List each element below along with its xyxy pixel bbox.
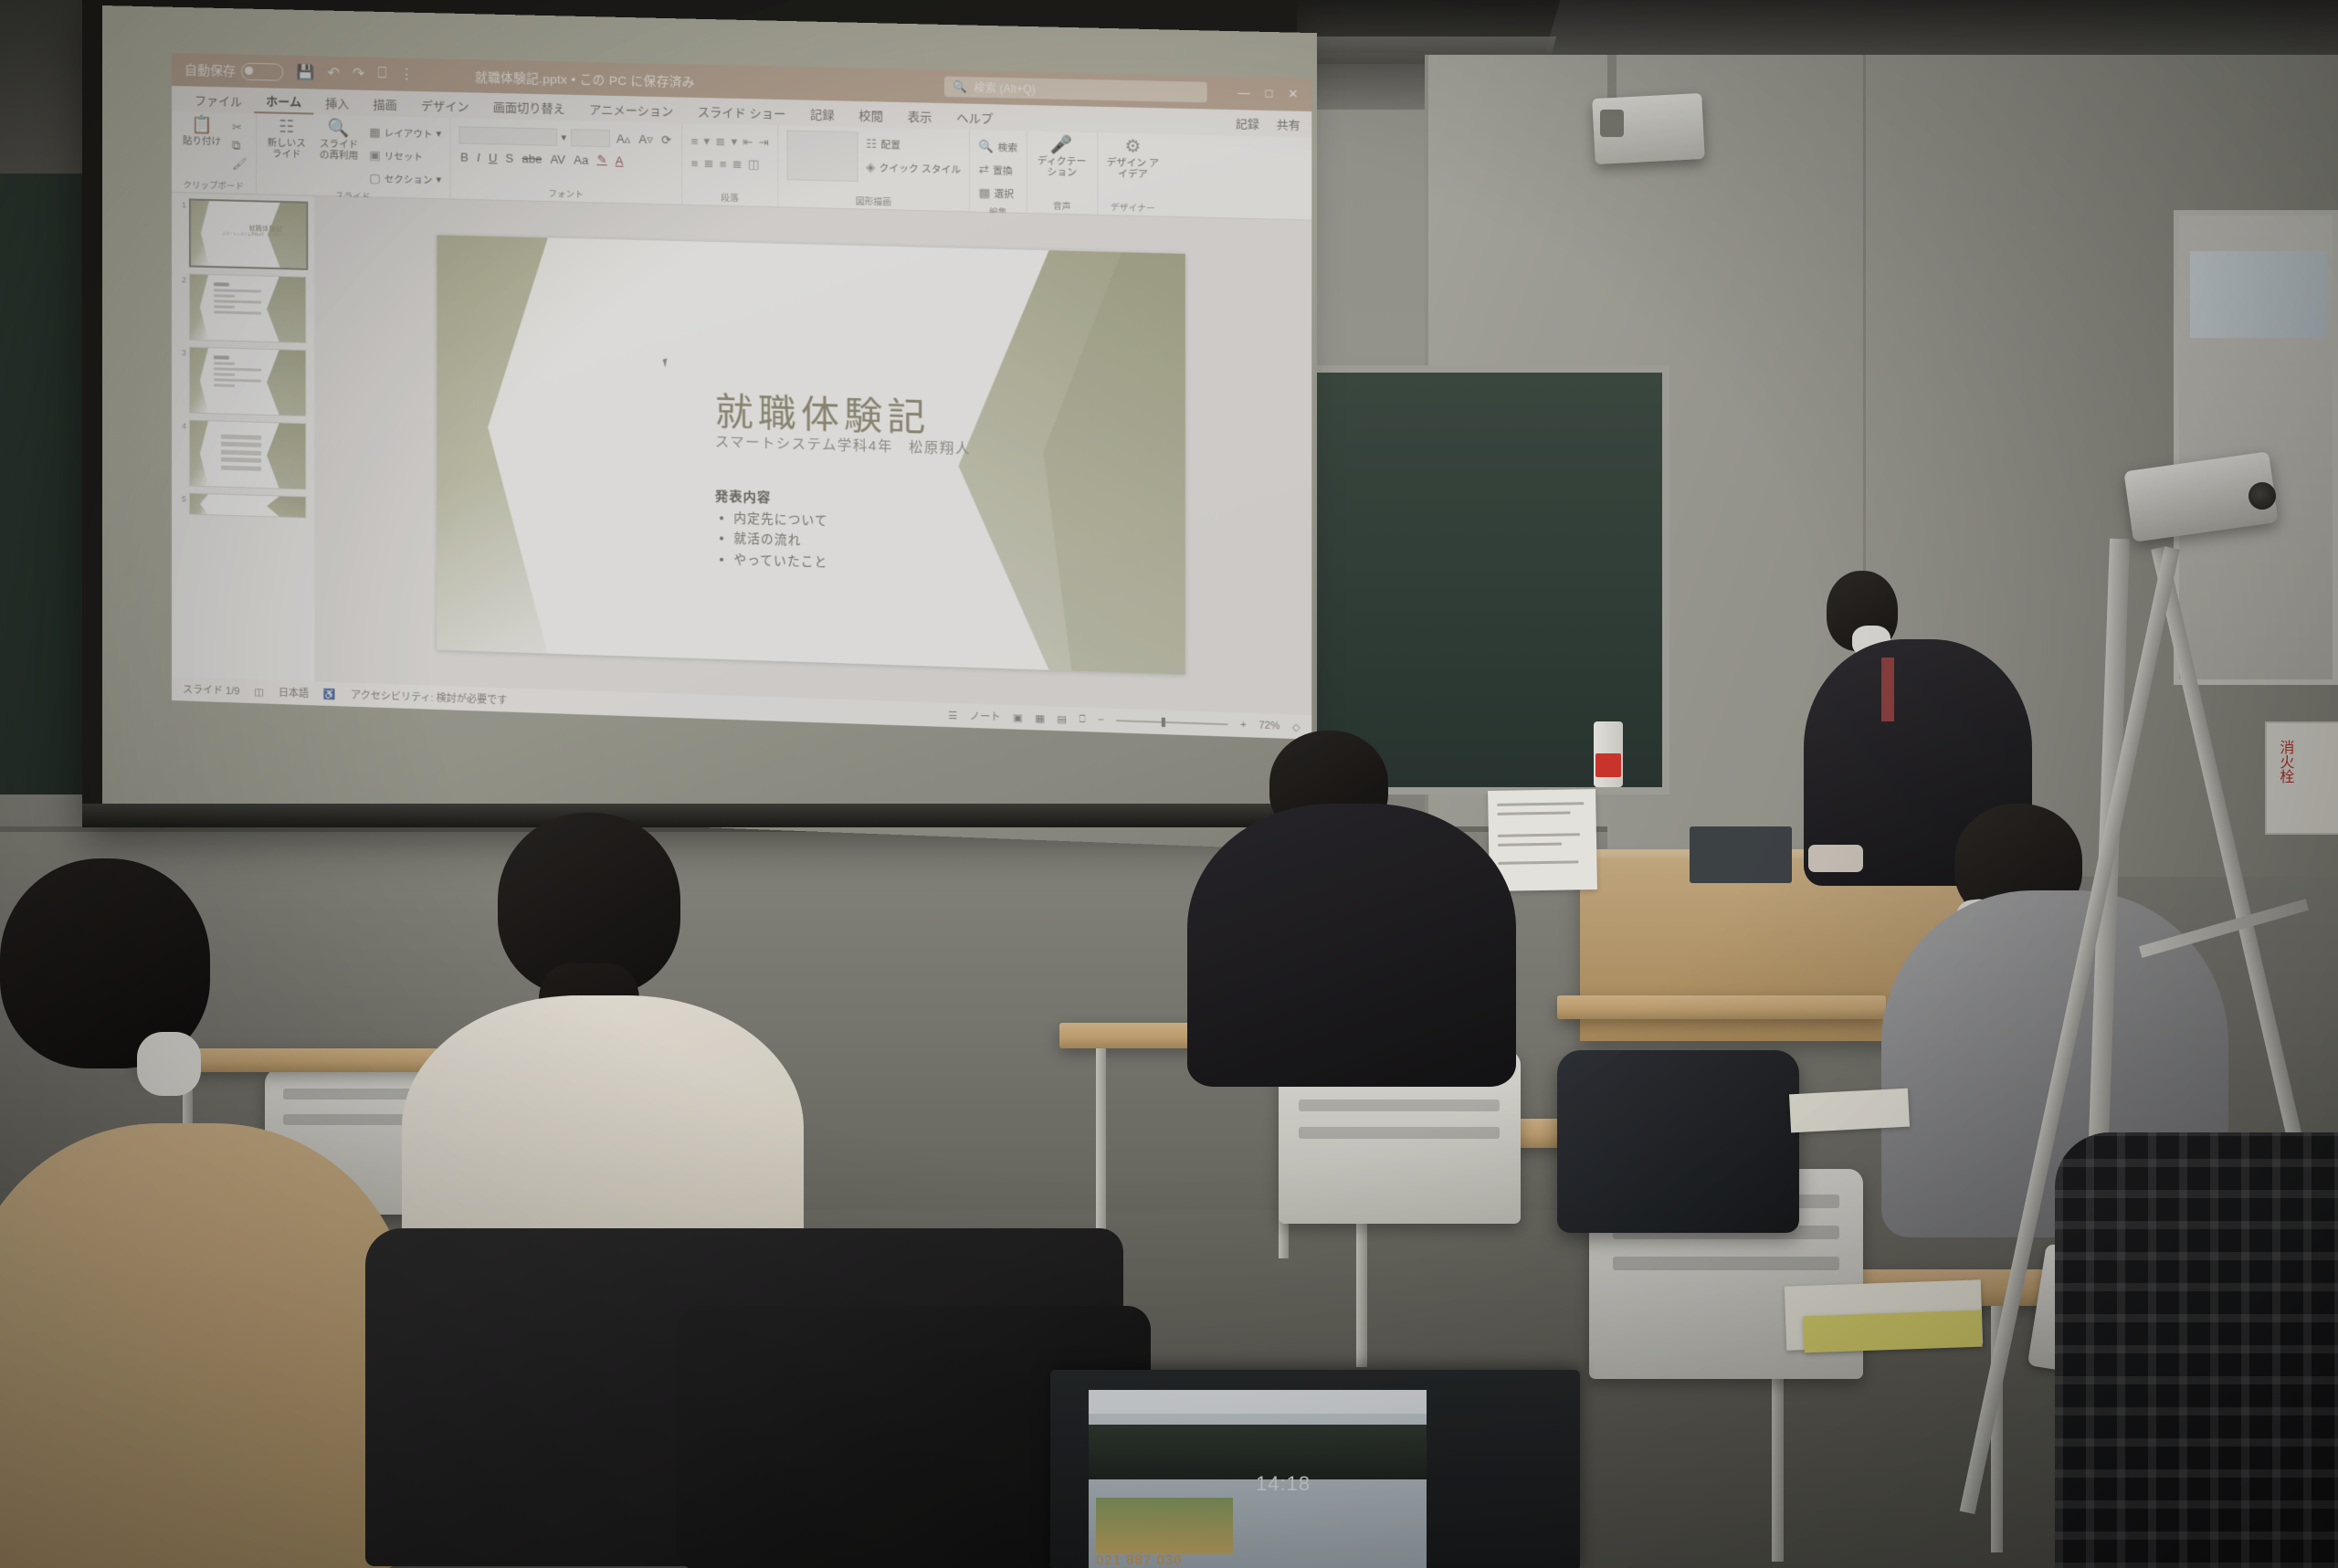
ribbon-group-slides: ☷ 新しいスライド 🔍 スライドの再利用 ▦ レイアウト ▾ <box>257 113 450 198</box>
agenda-item: 内定先について <box>733 509 827 532</box>
group-label-drawing: 図形描画 <box>786 190 961 209</box>
shrink-font-icon[interactable]: A▿ <box>637 132 655 147</box>
more-icon[interactable]: ⋮ <box>399 65 414 83</box>
reuse-slides-label: スライドの再利用 <box>317 139 361 162</box>
powerpoint-window[interactable]: 自動保存 💾 ↶ ↷ ⎕ ⋮ 就職体験記.pptx • この PC に保存済み … <box>172 53 1311 770</box>
arrange-icon: ☷ <box>866 137 877 152</box>
accessibility-status[interactable]: アクセシビリティ: 検討が必要です <box>351 688 508 708</box>
classroom-scene: 消火栓 自動保存 💾 ↶ ↷ ⎕ ⋮ 就職体験記.pptx • この PC に保… <box>0 0 2338 1568</box>
bullets-icon[interactable]: ≡ <box>691 134 699 148</box>
change-case-icon[interactable]: Aa <box>572 153 590 167</box>
section-button[interactable]: ▢ セクション ▾ <box>369 169 441 189</box>
thumbnail-slide-5[interactable] <box>189 493 306 519</box>
mouse-cursor <box>663 358 670 367</box>
foreground-laptop-code: 021 887 036 <box>1096 1552 1182 1568</box>
wall-notice <box>1488 789 1597 891</box>
normal-view-icon[interactable]: ▣ <box>1013 711 1023 724</box>
zoom-level[interactable]: 72% <box>1259 720 1280 731</box>
justify-icon[interactable]: ≣ <box>732 156 742 171</box>
ribbon-group-font: ▾ A▵ A▿ ⟳ B I U S abe AV Aa ✎ <box>450 118 682 205</box>
arrange-button[interactable]: ☷ 配置 <box>866 135 961 156</box>
group-label-clipboard: クリップボード <box>180 175 247 192</box>
quick-styles-label: クイック スタイル <box>879 161 961 176</box>
search-placeholder: 検索 (Alt+Q) <box>974 79 1036 97</box>
thumbnail-slide-4[interactable] <box>189 420 306 490</box>
copy-icon[interactable]: ⧉ <box>232 139 247 153</box>
ribbon-group-editing: 🔍 検索 ⇄ 置換 ▩ 選択 編集 <box>970 130 1027 213</box>
current-slide[interactable]: 就職体験記 スマートシステム学科4年 松原翔人 発表内容 内定先について 就活の… <box>437 235 1185 674</box>
select-icon: ▩ <box>979 185 991 201</box>
section-label: セクション <box>384 172 433 186</box>
format-painter-icon[interactable]: 🖌 <box>232 157 247 172</box>
close-button[interactable]: ✕ <box>1288 87 1298 102</box>
accessibility-icon[interactable]: ♿ <box>323 688 336 700</box>
paste-label: 貼り付け <box>183 135 221 147</box>
tab-transitions[interactable]: 画面切り替え <box>481 94 577 120</box>
grow-font-icon[interactable]: A▵ <box>615 132 633 147</box>
zoom-slider-handle[interactable] <box>1162 718 1165 727</box>
font-size-input[interactable] <box>571 129 610 147</box>
group-label-designer: デザイナー <box>1106 198 1159 215</box>
layout-button[interactable]: ▦ レイアウト ▾ <box>369 123 441 143</box>
tab-view[interactable]: 表示 <box>895 103 943 128</box>
chevron-down-icon: ▾ <box>437 129 441 140</box>
thumbnail-row[interactable]: 2 <box>175 273 312 343</box>
chevron-down-icon[interactable]: ▾ <box>562 132 566 142</box>
slide-agenda-heading[interactable]: 発表内容 <box>715 487 771 507</box>
align-right-icon[interactable]: ≡ <box>720 157 727 171</box>
reuse-slides-button[interactable]: 🔍 スライドの再利用 <box>317 120 361 162</box>
foreground-laptop-toolbar[interactable] <box>1089 1390 1427 1414</box>
foreground-laptop-video <box>1089 1425 1427 1479</box>
powerpoint-body: 1 就職体験記 スマートシステム学科4年 松原翔人 2 <box>172 193 1311 715</box>
underline-icon[interactable]: U <box>487 151 500 164</box>
presenter-hand <box>1808 845 1863 872</box>
layout-icon: ▦ <box>369 125 380 140</box>
presenter-necktie <box>1881 658 1894 721</box>
search-input[interactable]: 🔍 検索 (Alt+Q) <box>944 77 1207 103</box>
projector-lens <box>1600 110 1624 137</box>
align-center-icon[interactable]: ≣ <box>703 156 713 171</box>
decrease-indent-icon[interactable]: ⇤ <box>742 134 753 149</box>
undo-icon[interactable]: ↶ <box>327 64 339 82</box>
tab-help[interactable]: ヘルプ <box>944 105 1006 130</box>
layout-label: レイアウト <box>384 126 433 141</box>
slide-agenda-list[interactable]: 内定先について 就活の流れ やっていたこと <box>715 508 828 573</box>
projection-screen-bottom-bar <box>82 804 1297 827</box>
zoom-slider[interactable] <box>1116 720 1228 725</box>
record-button[interactable]: 記録 <box>1236 114 1259 132</box>
slide-editing-area[interactable]: 就職体験記 スマートシステム学科4年 松原翔人 発表内容 内定先について 就活の… <box>314 196 1311 715</box>
increase-indent-icon[interactable]: ⇥ <box>759 135 769 150</box>
language-indicator[interactable]: 日本語 <box>279 685 309 700</box>
find-label: 検索 <box>997 140 1017 154</box>
character-spacing-icon[interactable]: AV <box>548 152 567 166</box>
tab-animations[interactable]: アニメーション <box>577 96 686 121</box>
ribbon-group-clipboard: 📋 貼り付け ✂ ⧉ 🖌 クリップボード <box>172 111 257 194</box>
thumbnail-row[interactable]: 1 就職体験記 スマートシステム学科4年 松原翔人 <box>175 198 312 270</box>
design-ideas-label: デザイン アイデア <box>1106 157 1159 181</box>
reset-button[interactable]: ▣ リセット <box>369 146 441 166</box>
replace-icon: ⇄ <box>979 163 989 178</box>
slide-left-accent-shape <box>437 235 547 653</box>
design-ideas-icon: ⚙ <box>1125 138 1142 156</box>
slide-left-shape <box>190 275 208 341</box>
document-name[interactable]: 就職体験記.pptx • この PC に保存済み <box>475 67 695 89</box>
reuse-slides-icon: 🔍 <box>328 120 350 138</box>
desk-leg <box>1096 1048 1106 1258</box>
find-button[interactable]: 🔍 検索 <box>979 137 1017 156</box>
foreground-laptop-thumbnail <box>1096 1498 1233 1554</box>
notes-button[interactable]: ☰ <box>948 709 957 721</box>
reset-icon: ▣ <box>369 148 380 163</box>
dictate-label: ディクテーション <box>1036 155 1089 179</box>
thumbnail-slide-2[interactable] <box>189 273 306 343</box>
thumbnail-row[interactable]: 3 <box>175 346 312 416</box>
dictate-button[interactable]: 🎤 ディクテーション <box>1036 136 1089 179</box>
tab-home[interactable]: ホーム <box>254 89 313 115</box>
fire-hydrant-sign-label: 消火栓 <box>2276 740 2292 784</box>
slideshow-icon[interactable]: ⎕ <box>1079 713 1086 725</box>
ribbon-group-voice: 🎤 ディクテーション 音声 <box>1027 131 1098 214</box>
audience-jacket <box>1187 804 1516 1087</box>
font-color-icon[interactable]: A <box>614 153 626 167</box>
backpack <box>1557 1050 1799 1233</box>
thumbnail-row[interactable]: 5 <box>175 492 312 519</box>
tab-design[interactable]: デザイン <box>409 92 481 117</box>
italic-icon[interactable]: I <box>475 150 482 163</box>
zoom-out-button[interactable]: − <box>1098 714 1104 725</box>
tab-file[interactable]: ファイル <box>183 88 254 112</box>
reset-label: リセット <box>384 149 423 163</box>
thumbnail-slide-1[interactable]: 就職体験記 スマートシステム学科4年 松原翔人 <box>189 198 308 269</box>
shapes-gallery[interactable] <box>786 130 858 182</box>
notes-label[interactable]: ノート <box>970 709 1001 724</box>
slide-left-shape <box>190 421 208 487</box>
autosave-label: 自動保存 <box>184 60 236 79</box>
thumbnail-slide-3[interactable] <box>189 347 306 417</box>
fit-to-window-icon[interactable]: ◇ <box>1292 721 1301 733</box>
podium-laptop <box>1690 826 1792 883</box>
audience-member-plaid-shirt <box>2055 1132 2338 1568</box>
thumbnail-row[interactable]: 4 <box>175 419 312 490</box>
thumbnail-number: 2 <box>175 273 186 284</box>
slide-thumbnail-panel[interactable]: 1 就職体験記 スマートシステム学科4年 松原翔人 2 <box>172 193 314 681</box>
audience-mask <box>137 1032 201 1096</box>
new-slide-label: 新しいスライド <box>265 137 309 160</box>
paste-icon: 📋 <box>191 116 213 134</box>
new-slide-button[interactable]: ☷ 新しいスライド <box>265 118 309 160</box>
select-label: 選択 <box>994 186 1014 201</box>
shadow-icon[interactable]: S <box>503 151 515 164</box>
strikethrough-icon[interactable]: abe <box>520 151 543 165</box>
slide-sorter-icon[interactable]: ▦ <box>1035 712 1045 725</box>
desk <box>1557 995 1886 1019</box>
tab-record[interactable]: 記録 <box>798 101 847 126</box>
camera-lens-icon <box>2248 482 2276 510</box>
slide-subtitle[interactable]: スマートシステム学科4年 松原翔人 <box>715 431 971 458</box>
minimize-button[interactable]: — <box>1237 86 1250 101</box>
group-label-voice: 音声 <box>1036 196 1089 213</box>
paste-button[interactable]: 📋 貼り付け <box>180 116 224 147</box>
share-button[interactable]: 共有 <box>1277 115 1301 133</box>
slide-right-shape <box>267 350 305 416</box>
ribbon-group-paragraph: ≡▾ ≣▾ ⇤ ⇥ ≡ ≣ ≡ ≣ ◫ 段落 <box>682 123 778 206</box>
present-icon[interactable]: ⎕ <box>378 66 387 82</box>
thumbnail-number: 5 <box>175 492 186 503</box>
ribbon-group-designer: ⚙ デザイン アイデア デザイナー <box>1098 132 1168 216</box>
slide-left-shape <box>190 348 208 414</box>
new-slide-icon: ☷ <box>279 119 294 136</box>
slide-left-shape <box>191 201 209 267</box>
agenda-item: やっていたこと <box>733 550 827 574</box>
design-ideas-button[interactable]: ⚙ デザイン アイデア <box>1106 138 1159 181</box>
section-icon: ▢ <box>369 171 380 185</box>
tab-review[interactable]: 校閲 <box>847 102 895 127</box>
zoom-in-button[interactable]: + <box>1240 720 1247 731</box>
slide-right-shape <box>267 496 305 517</box>
search-icon: 🔍 <box>953 80 967 94</box>
reading-view-icon[interactable]: ▤ <box>1057 712 1067 725</box>
quick-styles-icon: ◈ <box>866 160 875 174</box>
bold-icon[interactable]: B <box>458 150 470 163</box>
paper-sheet <box>1789 1089 1910 1133</box>
maximize-button[interactable]: □ <box>1265 86 1272 101</box>
arrange-label: 配置 <box>880 137 900 152</box>
numbering-icon[interactable]: ≣ <box>715 134 725 149</box>
autosave-toggle[interactable]: 自動保存 <box>184 60 283 80</box>
save-icon[interactable]: 💾 <box>296 63 314 81</box>
foreground-laptop-clock: 14:18 <box>1256 1472 1311 1496</box>
thumbnail-number: 4 <box>175 419 186 430</box>
thumbnail-number: 3 <box>175 346 186 357</box>
group-label-paragraph: 段落 <box>691 188 769 205</box>
autosave-switch[interactable] <box>241 62 283 80</box>
columns-icon[interactable]: ◫ <box>748 157 760 172</box>
select-button[interactable]: ▩ 選択 <box>979 184 1017 203</box>
display-settings-icon[interactable]: ◫ <box>254 686 263 698</box>
window-glass <box>2190 251 2327 338</box>
tab-slideshow[interactable]: スライド ショー <box>685 99 797 124</box>
chevron-down-icon: ▾ <box>437 174 441 185</box>
agenda-item: 就活の流れ <box>733 529 827 552</box>
slide-right-shape <box>267 277 305 342</box>
dictate-icon: 🎤 <box>1050 136 1072 154</box>
thumbnail-number: 1 <box>175 198 186 209</box>
redo-icon[interactable]: ↷ <box>353 64 364 82</box>
tab-insert[interactable]: 挿入 <box>313 90 361 114</box>
yellow-paper <box>1803 1310 1982 1353</box>
audience-tan-sweater <box>0 1123 411 1568</box>
text-highlight-icon[interactable]: ✎ <box>595 153 609 167</box>
thumbnail-subtitle: スマートシステム学科4年 松原翔人 <box>222 231 282 238</box>
clear-formatting-icon[interactable]: ⟳ <box>659 132 673 148</box>
find-icon: 🔍 <box>979 139 995 154</box>
tab-draw[interactable]: 描画 <box>361 91 408 115</box>
slide-right-shape <box>267 423 305 489</box>
cut-icon[interactable]: ✂ <box>232 121 247 135</box>
replace-label: 置換 <box>993 163 1013 178</box>
hand-sanitizer-label <box>1596 753 1621 777</box>
quick-styles-button[interactable]: ◈ クイック スタイル <box>866 158 961 179</box>
slide-left-shape <box>190 494 208 515</box>
align-left-icon[interactable]: ≡ <box>691 156 699 170</box>
font-name-input[interactable] <box>458 126 556 146</box>
slide-counter[interactable]: スライド 1/9 <box>183 681 239 698</box>
replace-button[interactable]: ⇄ 置換 <box>979 161 1017 180</box>
ribbon-group-drawing: ☷ 配置 ◈ クイック スタイル 図形描画 <box>778 125 970 211</box>
